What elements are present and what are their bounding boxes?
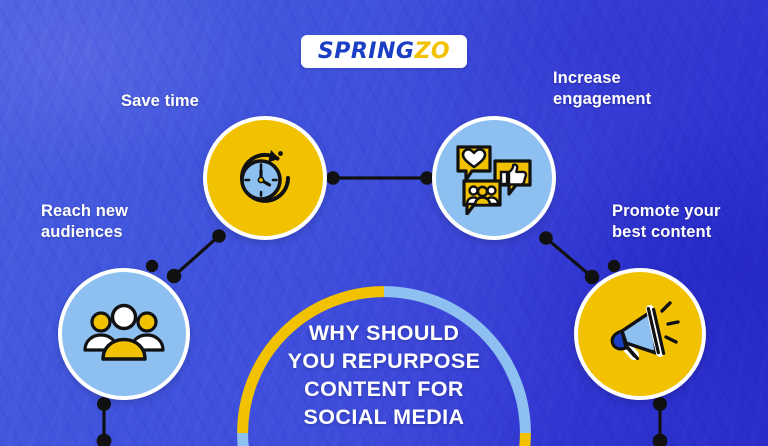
brand-logo-text: SPRINGZO xyxy=(318,41,450,63)
center-headline: WHY SHOULD YOU REPURPOSE CONTENT FOR SOC… xyxy=(255,320,513,432)
headline-line-1: WHY SHOULD xyxy=(255,320,513,348)
label-line: Save time xyxy=(121,91,199,112)
label-line: Reach new xyxy=(41,201,128,222)
node-bubble-promote-best-content[interactable] xyxy=(574,268,706,400)
brand-logo-plate[interactable]: SPRINGZO xyxy=(301,35,467,68)
node-label-save-time: Save time xyxy=(121,91,199,112)
brand-logo-secondary: ZO xyxy=(414,39,450,64)
brand-logo-primary: SPRING xyxy=(318,39,415,64)
megaphone-icon xyxy=(600,297,680,371)
node-bubble-save-time[interactable] xyxy=(203,116,327,240)
label-line: best content xyxy=(612,222,720,243)
infographic-canvas: WHY SHOULD YOU REPURPOSE CONTENT FOR SOC… xyxy=(0,0,768,446)
label-line: Increase xyxy=(553,68,651,89)
node-bubble-reach-new-audiences[interactable] xyxy=(58,268,190,400)
label-line: engagement xyxy=(553,89,651,110)
headline-line-3: CONTENT FOR xyxy=(255,376,513,404)
node-bubble-increase-engagement[interactable] xyxy=(432,116,556,240)
headline-line-2: YOU REPURPOSE xyxy=(255,348,513,376)
node-label-promote-best-content: Promote your best content xyxy=(612,201,720,243)
people-group-icon xyxy=(82,302,166,366)
engagement-bubbles-icon xyxy=(454,141,534,215)
ring-segment-lower-left xyxy=(243,433,384,446)
headline-line-4: SOCIAL MEDIA xyxy=(255,404,513,432)
clock-refresh-icon xyxy=(227,140,303,216)
ring-segment-lower-right xyxy=(384,433,525,446)
label-line: audiences xyxy=(41,222,128,243)
node-label-reach-new-audiences: Reach new audiences xyxy=(41,201,128,243)
node-label-increase-engagement: Increase engagement xyxy=(553,68,651,110)
label-line: Promote your xyxy=(612,201,720,222)
